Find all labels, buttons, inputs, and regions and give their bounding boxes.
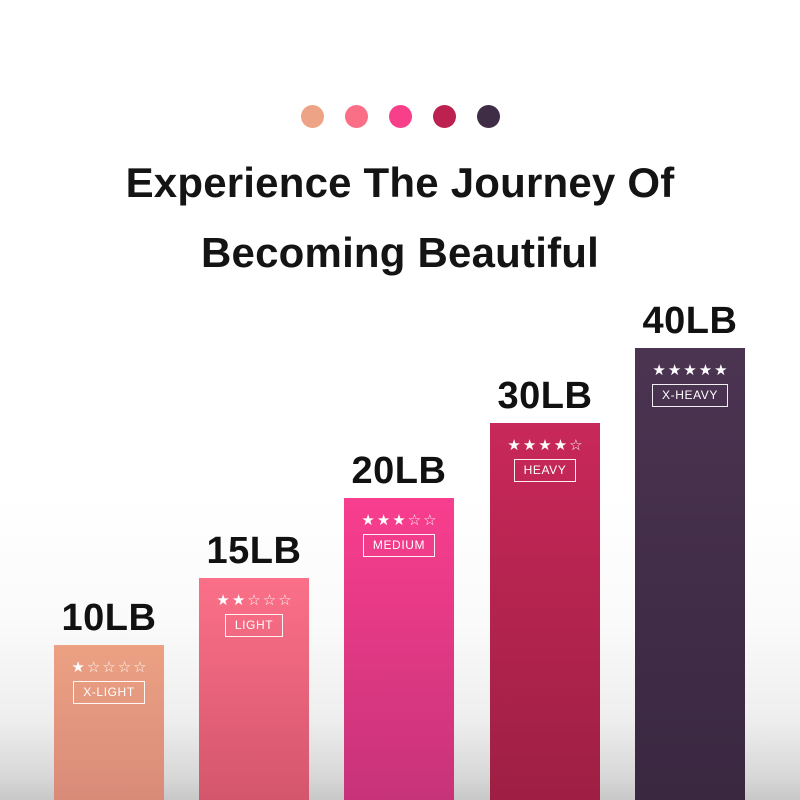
star-filled-icon: ★	[232, 592, 245, 609]
star-empty-icon: ☆	[263, 592, 276, 609]
bar-group[interactable]: 20LB★★★☆☆MEDIUM	[344, 446, 454, 800]
star-filled-icon: ★	[652, 362, 665, 379]
star-empty-icon: ☆	[87, 659, 100, 676]
star-filled-icon: ★	[392, 512, 405, 529]
bar-30lb[interactable]: ★★★★☆HEAVY	[490, 423, 600, 800]
bar-weight-label: 30LB	[490, 375, 600, 418]
star-filled-icon: ★	[699, 362, 712, 379]
star-empty-icon: ☆	[118, 659, 131, 676]
star-filled-icon: ★	[507, 437, 520, 454]
star-filled-icon: ★	[71, 659, 84, 676]
star-empty-icon: ☆	[278, 592, 291, 609]
bar-weight-label: 10LB	[54, 597, 164, 640]
bar-20lb[interactable]: ★★★☆☆MEDIUM	[344, 498, 454, 800]
star-filled-icon: ★	[523, 437, 536, 454]
bar-group[interactable]: 30LB★★★★☆HEAVY	[490, 371, 600, 800]
bar-weight-label: 20LB	[344, 450, 454, 493]
star-empty-icon: ☆	[133, 659, 146, 676]
star-rating: ★☆☆☆☆	[71, 659, 146, 676]
star-filled-icon: ★	[714, 362, 727, 379]
bar-group[interactable]: 40LB★★★★★X-HEAVY	[635, 296, 745, 800]
star-rating: ★★★★☆	[507, 437, 582, 454]
bar-badge: ★☆☆☆☆X-LIGHT	[54, 659, 164, 704]
bar-badge: ★★★★★X-HEAVY	[635, 362, 745, 407]
star-empty-icon: ☆	[569, 437, 582, 454]
bar-badge: ★★★★☆HEAVY	[490, 437, 600, 482]
resistance-band-bar-chart: 10LB★☆☆☆☆X-LIGHT15LB★★☆☆☆LIGHT20LB★★★☆☆M…	[0, 0, 800, 800]
bar-level-badge: MEDIUM	[363, 534, 435, 557]
star-filled-icon: ★	[538, 437, 551, 454]
star-filled-icon: ★	[554, 437, 567, 454]
bar-40lb[interactable]: ★★★★★X-HEAVY	[635, 348, 745, 800]
star-rating: ★★★☆☆	[361, 512, 436, 529]
bar-level-badge: X-HEAVY	[652, 384, 728, 407]
bar-level-badge: LIGHT	[225, 614, 283, 637]
bar-weight-label: 15LB	[199, 530, 309, 573]
bar-group[interactable]: 15LB★★☆☆☆LIGHT	[199, 526, 309, 800]
star-empty-icon: ☆	[408, 512, 421, 529]
bar-10lb[interactable]: ★☆☆☆☆X-LIGHT	[54, 645, 164, 800]
bar-15lb[interactable]: ★★☆☆☆LIGHT	[199, 578, 309, 800]
star-rating: ★★☆☆☆	[216, 592, 291, 609]
star-rating: ★★★★★	[652, 362, 727, 379]
bar-badge: ★★☆☆☆LIGHT	[199, 592, 309, 637]
bar-weight-label: 40LB	[635, 300, 745, 343]
star-filled-icon: ★	[377, 512, 390, 529]
bar-level-badge: X-LIGHT	[73, 681, 145, 704]
star-filled-icon: ★	[216, 592, 229, 609]
star-empty-icon: ☆	[247, 592, 260, 609]
star-filled-icon: ★	[683, 362, 696, 379]
bar-group[interactable]: 10LB★☆☆☆☆X-LIGHT	[54, 593, 164, 800]
star-filled-icon: ★	[668, 362, 681, 379]
star-empty-icon: ☆	[423, 512, 436, 529]
star-filled-icon: ★	[361, 512, 374, 529]
bar-level-badge: HEAVY	[514, 459, 577, 482]
bar-badge: ★★★☆☆MEDIUM	[344, 512, 454, 557]
star-empty-icon: ☆	[102, 659, 115, 676]
